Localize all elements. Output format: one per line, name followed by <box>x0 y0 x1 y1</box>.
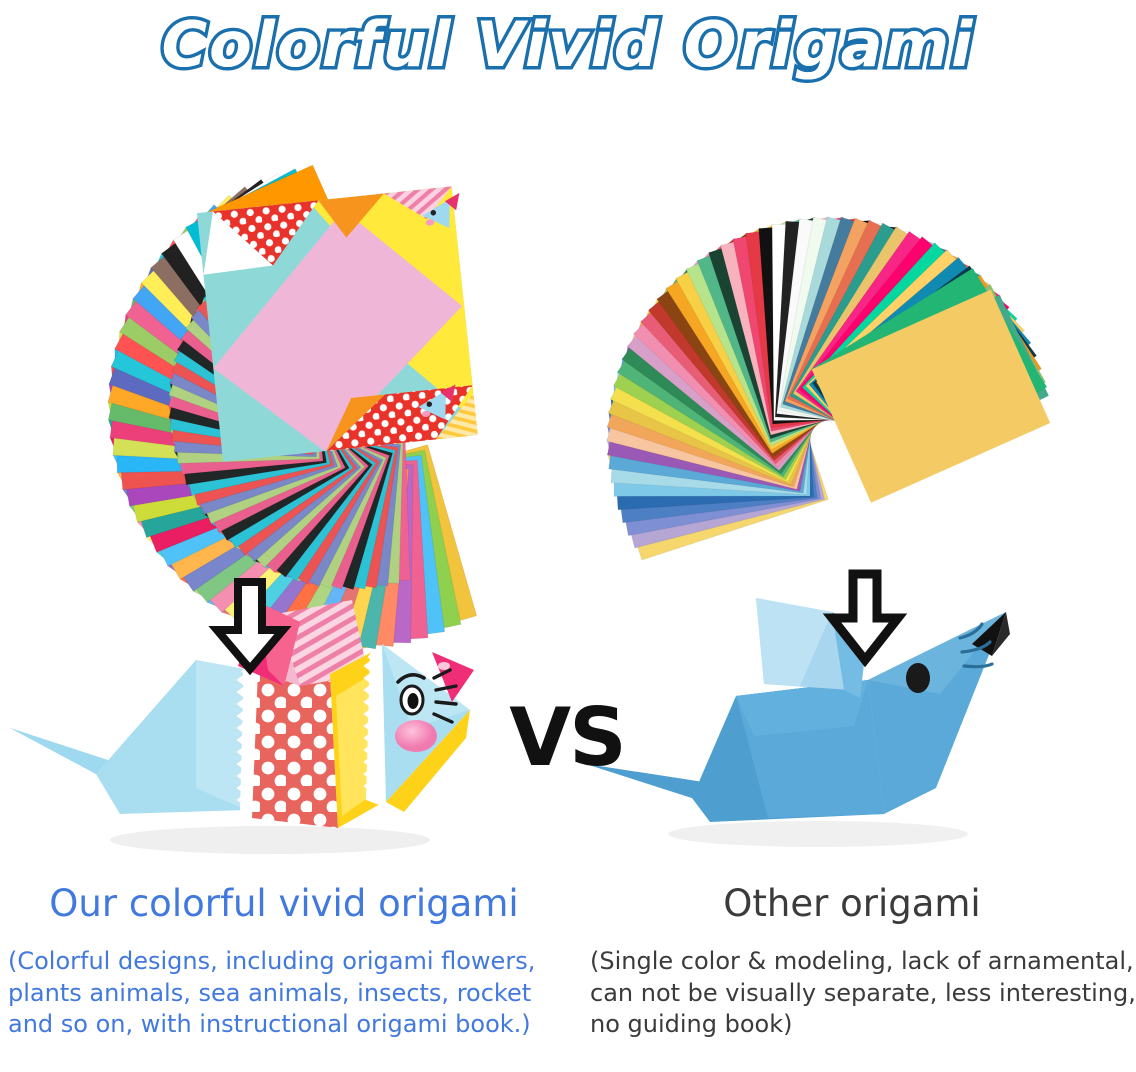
caption-left: Our colorful vivid origami (Colorful des… <box>0 884 568 1041</box>
panel-colorful-origami <box>0 88 568 888</box>
infographic-root: Colorful Vivid Origami Colorful Vivid Or… <box>0 0 1136 1072</box>
down-arrow-icon-left <box>205 578 295 673</box>
caption-right: Other origami (Single color & modeling, … <box>568 884 1136 1041</box>
title-bar: Colorful Vivid Origami Colorful Vivid Or… <box>0 2 1136 86</box>
right-description: (Single color & modeling, lack of arname… <box>568 946 1136 1041</box>
panel-other-origami <box>568 88 1136 888</box>
page-title: Colorful Vivid Origami <box>162 8 975 81</box>
right-heading: Other origami <box>568 884 1136 924</box>
plain-paper-fan <box>568 88 1136 488</box>
left-description: (Colorful designs, including origami flo… <box>0 946 568 1041</box>
down-arrow-icon-right <box>820 572 910 667</box>
left-heading: Our colorful vivid origami <box>0 884 568 924</box>
vs-label: VS <box>487 685 647 790</box>
colorful-paper-fan <box>0 88 568 488</box>
